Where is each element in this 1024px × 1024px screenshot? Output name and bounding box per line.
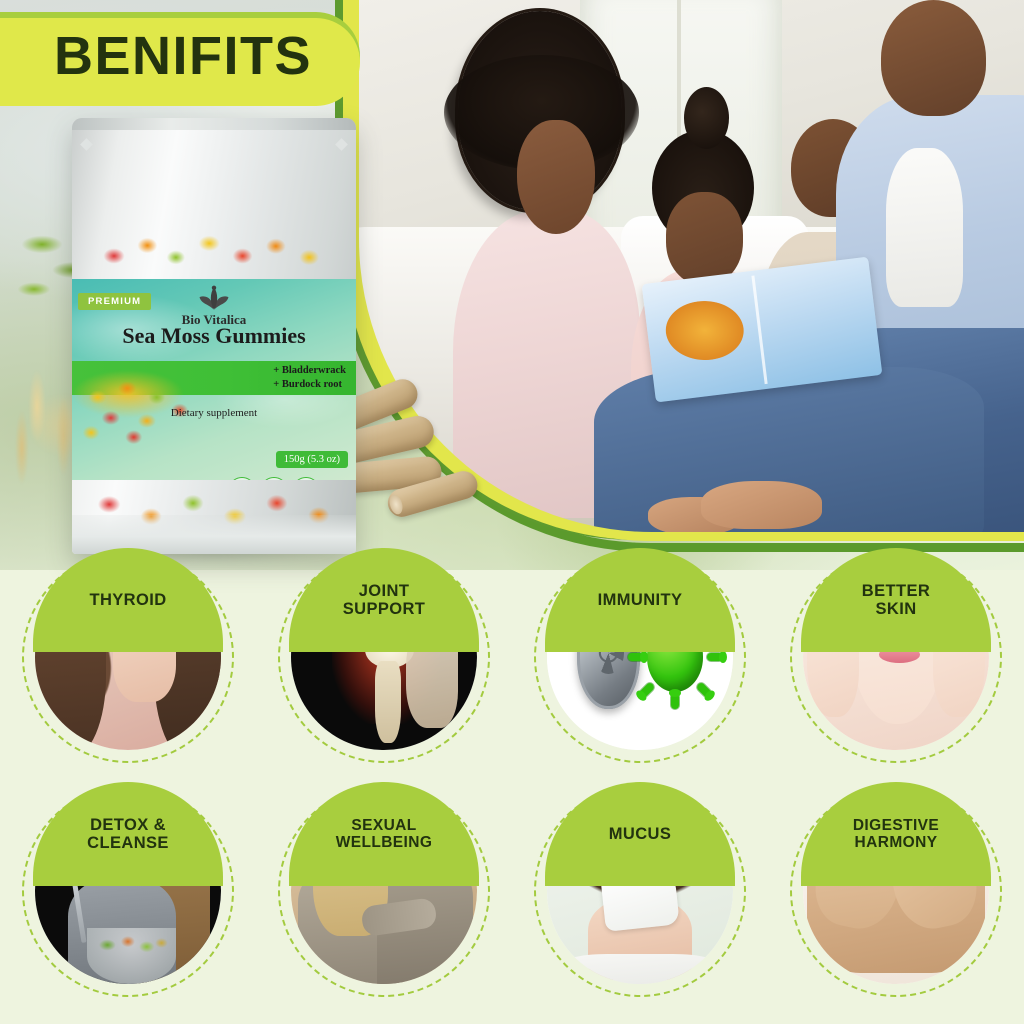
tear-notch-right	[335, 138, 348, 151]
benefit-label-better-skin: BETTER SKIN	[854, 582, 938, 619]
benefit-label-mucus: MUCUS	[601, 825, 680, 843]
pouch-top-seal	[72, 118, 356, 130]
benefit-badge[interactable]: DETOX & CLEANSE	[35, 798, 221, 984]
benefit-badge[interactable]: JOINT SUPPORT	[291, 564, 477, 750]
benefit-label-sexual-wellbeing: SEXUAL WELLBEING	[328, 817, 441, 852]
label-line: SKIN	[862, 600, 930, 618]
label-line: JOINT	[343, 582, 426, 600]
salad	[91, 928, 173, 961]
virus-spike	[707, 653, 723, 661]
label-line: DIGESTIVE	[853, 817, 939, 834]
benefit-badge[interactable]: MUCUS	[547, 798, 733, 984]
child-foot-right	[701, 481, 822, 530]
dietary-supplement-text: Dietary supplement	[72, 407, 356, 419]
book-illustration	[665, 300, 744, 361]
product-label: PREMIUM Bio Vitalica Sea Moss Gummies +	[72, 279, 356, 480]
benefit-card-sexual-wellbeing[interactable]: SEXUAL WELLBEING	[256, 790, 512, 1024]
tibia-bone	[375, 661, 401, 743]
fda-badge: FDA	[324, 477, 352, 480]
benefit-card-detox-cleanse[interactable]: DETOX & CLEANSE	[0, 790, 256, 1024]
benefit-card-joint-support[interactable]: JOINT SUPPORT	[256, 556, 512, 790]
vegan-badge: VEGAN	[228, 477, 256, 480]
label-line: HARMONY	[853, 834, 939, 851]
benefit-label-digestive-harmony: DIGESTIVE HARMONY	[845, 817, 947, 852]
label-line: WELLBEING	[336, 834, 433, 851]
label-line: BETTER	[862, 582, 930, 600]
product-title: Sea Moss Gummies	[72, 323, 356, 349]
virus-spike	[671, 693, 679, 709]
net-weight: 150g (5.3 oz)	[276, 451, 348, 468]
benefit-card-mucus[interactable]: MUCUS	[512, 790, 768, 1024]
label-line: IMMUNITY	[598, 591, 683, 609]
benefit-label-detox-cleanse: DETOX & CLEANSE	[79, 816, 177, 853]
label-line: DETOX &	[87, 816, 169, 834]
gmo-free-badge: GMO FREE	[260, 477, 288, 480]
organic-seal-badge	[292, 477, 320, 480]
gummies-top-row	[95, 214, 334, 284]
label-line: SEXUAL	[336, 817, 433, 834]
girl-hair-puff	[684, 87, 729, 149]
benefit-badge[interactable]: IMMUNITY	[547, 564, 733, 750]
label-line: CLEANSE	[87, 834, 169, 852]
father-tshirt	[886, 148, 964, 307]
benefits-banner: BENIFITS	[0, 12, 360, 100]
virus-spike	[628, 653, 644, 661]
addon-burdock-root: + Burdock root	[273, 378, 346, 392]
benefit-card-immunity[interactable]: IMMUNITY	[512, 556, 768, 790]
product-pouch: PREMIUM Bio Vitalica Sea Moss Gummies +	[72, 118, 356, 554]
bio-vitalica-leaf-logo	[197, 285, 231, 311]
benefit-badge[interactable]: THYROID	[35, 564, 221, 750]
benefit-card-digestive-harmony[interactable]: DIGESTIVE HARMONY	[768, 790, 1024, 1024]
certification-badges: VEGAN GMO FREE FDA	[228, 477, 352, 480]
label-line: THYROID	[89, 591, 166, 609]
benefit-card-thyroid[interactable]: THYROID	[0, 556, 256, 790]
benefit-label-thyroid: THYROID	[81, 591, 174, 609]
label-line: MUCUS	[609, 825, 672, 843]
tear-notch-left	[80, 138, 93, 151]
benefit-badge[interactable]: DIGESTIVE HARMONY	[803, 798, 989, 984]
mother-face	[517, 120, 595, 234]
benefit-badge[interactable]: BETTER SKIN	[803, 564, 989, 750]
virus-spike	[638, 681, 655, 698]
benefit-card-better-skin[interactable]: BETTER SKIN	[768, 556, 1024, 790]
infographic-canvas: BENIFITS PREMIUM	[0, 0, 1024, 1024]
girl-face	[666, 192, 743, 285]
brand-block: Bio Vitalica	[72, 285, 356, 328]
virus-spike	[696, 681, 713, 698]
shirt	[558, 954, 722, 984]
benefits-grid: THYROID	[0, 556, 1024, 1024]
addon-ingredients: + Bladderwrack + Burdock root	[273, 364, 346, 392]
benefit-badge[interactable]: SEXUAL WELLBEING	[291, 798, 477, 984]
benefit-label-immunity: IMMUNITY	[590, 591, 691, 609]
label-line: SUPPORT	[343, 600, 426, 618]
benefit-label-joint-support: JOINT SUPPORT	[335, 582, 434, 619]
father-head	[881, 0, 986, 116]
addon-bladderwrack: + Bladderwrack	[273, 364, 346, 378]
page-title: BENIFITS	[54, 29, 312, 83]
